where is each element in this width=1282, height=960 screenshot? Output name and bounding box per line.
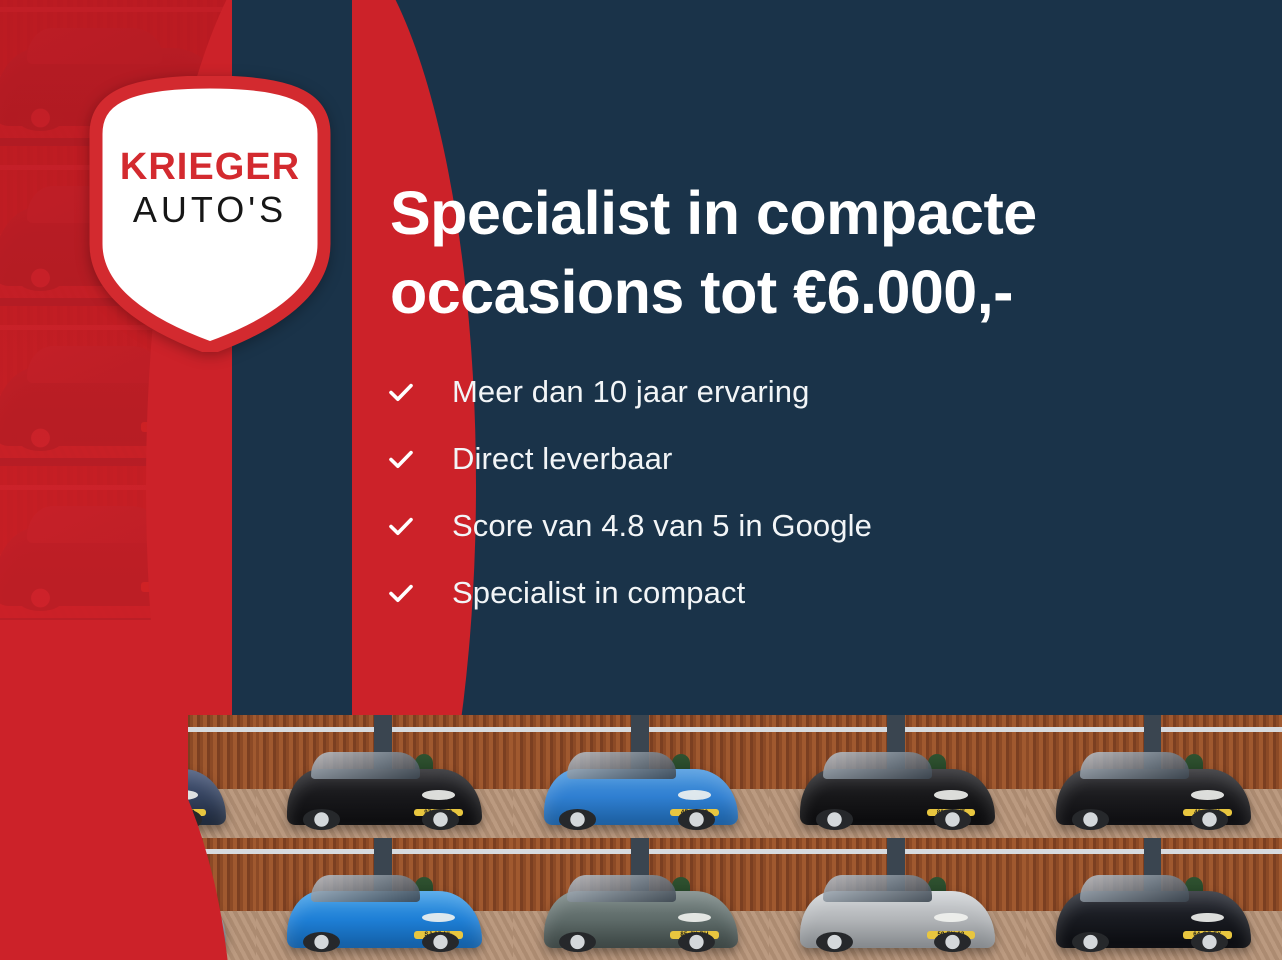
red-panel-wedge-fill [0, 620, 188, 960]
wheel-icon [1072, 809, 1109, 829]
car-photo-cell: SJ-87-NL [256, 838, 512, 960]
wheel-icon [422, 809, 459, 829]
usp-label: Meer dan 10 jaar ervaring [452, 374, 809, 410]
car-body: 64-GF-FX [1056, 891, 1251, 947]
wheel-icon [1191, 809, 1228, 829]
wheel-icon [678, 809, 715, 829]
car-photo-cell: 64-GF-FX [1026, 838, 1282, 960]
headline-line-2: occasions tot €6.000,- [390, 253, 1190, 332]
logo-shield[interactable]: KRIEGER AUTO'S [86, 76, 334, 352]
car-body: 97-KTH-9 [287, 769, 482, 825]
logo-name-primary: KRIEGER [86, 148, 334, 188]
check-icon [388, 446, 414, 472]
check-icon [388, 513, 414, 539]
usp-item: Score van 4.8 van 5 in Google [388, 492, 1128, 559]
wheel-icon [559, 809, 596, 829]
headlight-icon [422, 790, 455, 800]
wheel-icon [816, 809, 853, 829]
logo-text: KRIEGER AUTO'S [86, 148, 334, 231]
car-photo-cell: 59-FN-62 [769, 838, 1025, 960]
car-photo-cell: 81-12-WT [769, 715, 1025, 838]
banner-root: 72-JJ-42 97-KTH-9 4B-TF-60 [0, 0, 1282, 960]
car-body: 4B-TF-60 [544, 769, 739, 825]
headlight-icon [1191, 790, 1224, 800]
wheel-icon [303, 932, 340, 952]
usp-list: Meer dan 10 jaar ervaring Direct leverba… [388, 358, 1128, 626]
check-icon [388, 379, 414, 405]
car-body: 81-12-WT [800, 769, 995, 825]
headlight-icon [422, 913, 455, 923]
car-body: 85-JX-BH [544, 891, 739, 947]
wheel-icon [1072, 932, 1109, 952]
usp-item: Meer dan 10 jaar ervaring [388, 358, 1128, 425]
headlight-icon [934, 790, 967, 800]
check-icon [388, 580, 414, 606]
headlight-icon [1191, 913, 1224, 923]
car-body: SJ-87-NL [287, 891, 482, 947]
car-photo-cell: 4B-TF-60 [513, 715, 769, 838]
headlight-icon [678, 913, 711, 923]
usp-item: Direct leverbaar [388, 425, 1128, 492]
car-photo-cell: 85-JX-BH [513, 838, 769, 960]
usp-label: Specialist in compact [452, 575, 745, 611]
headlight-icon [934, 913, 967, 923]
wheel-icon [422, 932, 459, 952]
car-body: 43-LL-F1 [1056, 769, 1251, 825]
page-title: Specialist in compacte occasions tot €6.… [390, 174, 1190, 333]
headlight-icon [678, 790, 711, 800]
car-body: 59-FN-62 [800, 891, 995, 947]
car-photo-cell: 97-KTH-9 [256, 715, 512, 838]
wheel-icon [1191, 932, 1228, 952]
usp-label: Direct leverbaar [452, 441, 672, 477]
headline-line-1: Specialist in compacte [390, 174, 1190, 253]
car-photo-cell: 43-LL-F1 [1026, 715, 1282, 838]
usp-item: Specialist in compact [388, 559, 1128, 626]
wheel-icon [934, 809, 971, 829]
wheel-icon [816, 932, 853, 952]
usp-label: Score van 4.8 van 5 in Google [452, 508, 872, 544]
wheel-icon [303, 809, 340, 829]
logo-name-secondary: AUTO'S [86, 188, 334, 232]
